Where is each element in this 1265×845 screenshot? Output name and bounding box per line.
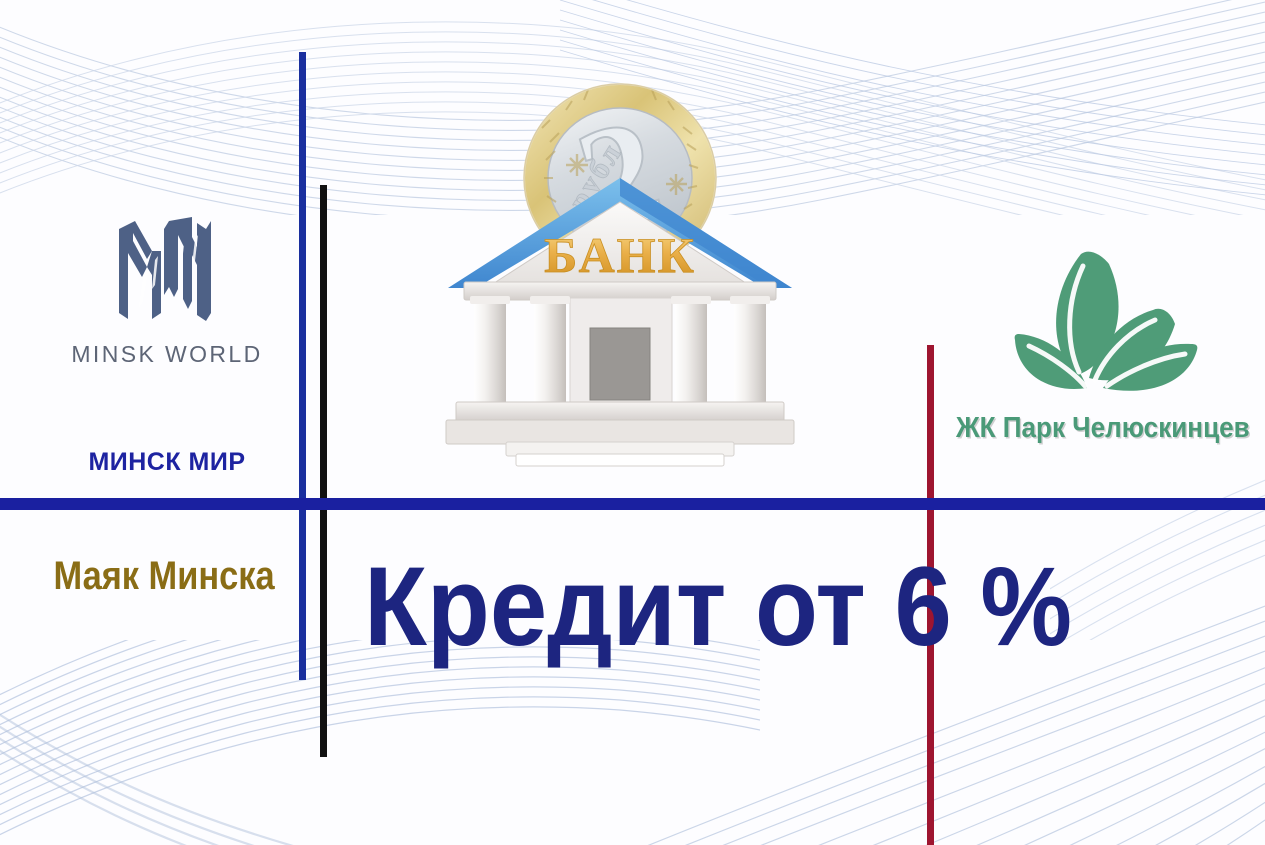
headline-credit-rate: Кредит от 6 %	[364, 548, 916, 666]
brand-block-park-chelyuskintsev: ЖК Парк Челюскинцев	[940, 248, 1260, 445]
credit-promo-poster: MINSK WORLD МИНСК МИР Маяк Минска	[0, 0, 1265, 845]
vertical-rule-black	[320, 185, 327, 757]
green-leaves-icon	[985, 248, 1215, 408]
minsk-world-latin-name: MINSK WORLD	[42, 341, 292, 368]
bank-building-illustration: 2 рубл БАНК	[420, 50, 840, 470]
bank-columns	[470, 296, 770, 406]
horizontal-rule-blue	[0, 498, 1265, 510]
bank-steps	[446, 402, 794, 466]
minsk-world-cyrillic-name: МИНСК МИР	[42, 448, 292, 477]
vertical-rule-blue	[299, 52, 306, 680]
park-chelyuskintsev-name: ЖК Парк Челюскинцев	[956, 412, 1244, 445]
mw-monogram-icon	[111, 215, 223, 327]
mayak-minska-name: Маяк Минска	[54, 554, 269, 599]
bank-pediment-text: БАНК	[544, 227, 696, 283]
brand-block-minsk-world: MINSK WORLD	[42, 215, 292, 368]
